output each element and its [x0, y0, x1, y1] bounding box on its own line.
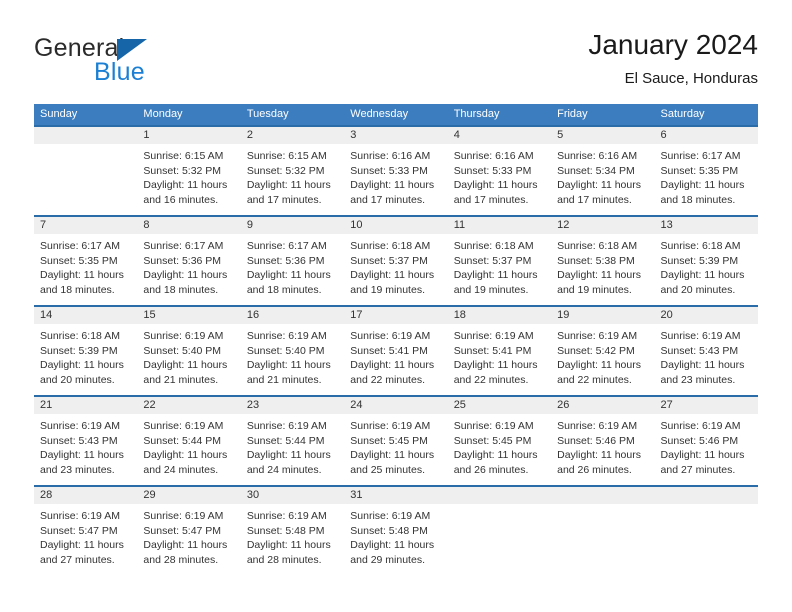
- sunset-text: Sunset: 5:44 PM: [247, 434, 338, 449]
- sunrise-text: Sunrise: 6:19 AM: [350, 419, 441, 434]
- day-body-row: Sunrise: 6:18 AM Sunset: 5:39 PM Dayligh…: [34, 324, 758, 395]
- sunrise-text: Sunrise: 6:19 AM: [557, 419, 648, 434]
- day-cell[interactable]: Sunrise: 6:17 AM Sunset: 5:35 PM Dayligh…: [34, 234, 137, 305]
- sunrise-text: Sunrise: 6:19 AM: [143, 419, 234, 434]
- daylight-text-line1: Daylight: 11 hours: [454, 448, 545, 463]
- sunrise-text: Sunrise: 6:19 AM: [40, 509, 131, 524]
- sunrise-text: Sunrise: 6:18 AM: [40, 329, 131, 344]
- daylight-text-line1: Daylight: 11 hours: [350, 358, 441, 373]
- daylight-text-line1: Daylight: 11 hours: [40, 448, 131, 463]
- day-cell[interactable]: Sunrise: 6:18 AM Sunset: 5:39 PM Dayligh…: [34, 324, 137, 395]
- day-cell[interactable]: Sunrise: 6:18 AM Sunset: 5:37 PM Dayligh…: [448, 234, 551, 305]
- daylight-text-line2: and 24 minutes.: [143, 463, 234, 478]
- daylight-text-line2: and 28 minutes.: [247, 553, 338, 568]
- weekday-header-row: Sunday Monday Tuesday Wednesday Thursday…: [34, 104, 758, 125]
- daylight-text-line2: and 17 minutes.: [350, 193, 441, 208]
- daylight-text-line2: and 20 minutes.: [40, 373, 131, 388]
- sunrise-text: Sunrise: 6:19 AM: [143, 509, 234, 524]
- sunrise-text: Sunrise: 6:15 AM: [143, 149, 234, 164]
- day-cell[interactable]: Sunrise: 6:15 AM Sunset: 5:32 PM Dayligh…: [137, 144, 240, 215]
- weekday-tuesday: Tuesday: [241, 104, 344, 125]
- daylight-text-line2: and 22 minutes.: [454, 373, 545, 388]
- daylight-text-line1: Daylight: 11 hours: [143, 358, 234, 373]
- day-number[interactable]: 18: [448, 307, 551, 324]
- day-cell[interactable]: Sunrise: 6:19 AM Sunset: 5:45 PM Dayligh…: [344, 414, 447, 485]
- week-row: 21 22 23 24 25 26 27 Sunrise: 6:19 AM Su…: [34, 395, 758, 485]
- day-number-band: 7 8 9 10 11 12 13: [34, 217, 758, 234]
- daylight-text-line2: and 29 minutes.: [350, 553, 441, 568]
- sunrise-text: Sunrise: 6:16 AM: [557, 149, 648, 164]
- sunrise-text: Sunrise: 6:19 AM: [454, 329, 545, 344]
- day-cell[interactable]: Sunrise: 6:19 AM Sunset: 5:47 PM Dayligh…: [137, 504, 240, 575]
- day-cell[interactable]: Sunrise: 6:19 AM Sunset: 5:41 PM Dayligh…: [344, 324, 447, 395]
- title-block: January 2024 El Sauce, Honduras: [588, 28, 758, 90]
- daylight-text-line1: Daylight: 11 hours: [661, 268, 752, 283]
- weekday-saturday: Saturday: [655, 104, 758, 125]
- day-number[interactable]: [655, 487, 758, 504]
- day-cell[interactable]: [551, 504, 654, 575]
- sunrise-text: Sunrise: 6:19 AM: [143, 329, 234, 344]
- sunset-text: Sunset: 5:47 PM: [40, 524, 131, 539]
- daylight-text-line1: Daylight: 11 hours: [143, 268, 234, 283]
- sunset-text: Sunset: 5:35 PM: [40, 254, 131, 269]
- calendar-page: General Blue January 2024 El Sauce, Hond…: [0, 0, 792, 612]
- sunrise-text: Sunrise: 6:19 AM: [661, 329, 752, 344]
- weekday-wednesday: Wednesday: [344, 104, 447, 125]
- day-cell[interactable]: Sunrise: 6:19 AM Sunset: 5:40 PM Dayligh…: [241, 324, 344, 395]
- sunset-text: Sunset: 5:44 PM: [143, 434, 234, 449]
- day-cell[interactable]: Sunrise: 6:19 AM Sunset: 5:42 PM Dayligh…: [551, 324, 654, 395]
- day-cell[interactable]: Sunrise: 6:19 AM Sunset: 5:40 PM Dayligh…: [137, 324, 240, 395]
- day-cell[interactable]: Sunrise: 6:17 AM Sunset: 5:36 PM Dayligh…: [241, 234, 344, 305]
- sunset-text: Sunset: 5:39 PM: [40, 344, 131, 359]
- sunrise-text: Sunrise: 6:19 AM: [454, 419, 545, 434]
- daylight-text-line1: Daylight: 11 hours: [40, 358, 131, 373]
- sunset-text: Sunset: 5:47 PM: [143, 524, 234, 539]
- daylight-text-line2: and 25 minutes.: [350, 463, 441, 478]
- day-number[interactable]: 31: [344, 487, 447, 504]
- sunset-text: Sunset: 5:48 PM: [350, 524, 441, 539]
- day-number[interactable]: 3: [344, 127, 447, 144]
- sunrise-text: Sunrise: 6:15 AM: [247, 149, 338, 164]
- week-row: 1 2 3 4 5 6 Sunrise: 6:15 AM Sunset: 5:3…: [34, 125, 758, 215]
- daylight-text-line2: and 22 minutes.: [350, 373, 441, 388]
- day-cell[interactable]: Sunrise: 6:19 AM Sunset: 5:44 PM Dayligh…: [137, 414, 240, 485]
- sunrise-text: Sunrise: 6:19 AM: [247, 329, 338, 344]
- day-number[interactable]: 22: [137, 397, 240, 414]
- day-body-row: Sunrise: 6:19 AM Sunset: 5:43 PM Dayligh…: [34, 414, 758, 485]
- sunset-text: Sunset: 5:45 PM: [454, 434, 545, 449]
- logo-text-blue: Blue: [94, 58, 145, 87]
- day-number[interactable]: 8: [137, 217, 240, 234]
- daylight-text-line1: Daylight: 11 hours: [661, 448, 752, 463]
- day-number[interactable]: 7: [34, 217, 137, 234]
- day-cell[interactable]: Sunrise: 6:18 AM Sunset: 5:39 PM Dayligh…: [655, 234, 758, 305]
- day-number-band: 28 29 30 31: [34, 487, 758, 504]
- daylight-text-line2: and 18 minutes.: [247, 283, 338, 298]
- day-number[interactable]: 21: [34, 397, 137, 414]
- calendar-grid: Sunday Monday Tuesday Wednesday Thursday…: [34, 104, 758, 575]
- day-number[interactable]: 13: [655, 217, 758, 234]
- daylight-text-line1: Daylight: 11 hours: [143, 538, 234, 553]
- day-number[interactable]: 9: [241, 217, 344, 234]
- daylight-text-line2: and 26 minutes.: [557, 463, 648, 478]
- sunset-text: Sunset: 5:41 PM: [454, 344, 545, 359]
- daylight-text-line1: Daylight: 11 hours: [557, 448, 648, 463]
- sunset-text: Sunset: 5:33 PM: [454, 164, 545, 179]
- daylight-text-line1: Daylight: 11 hours: [454, 358, 545, 373]
- sunset-text: Sunset: 5:41 PM: [350, 344, 441, 359]
- sunset-text: Sunset: 5:46 PM: [557, 434, 648, 449]
- sunrise-text: Sunrise: 6:17 AM: [661, 149, 752, 164]
- sunrise-text: Sunrise: 6:17 AM: [247, 239, 338, 254]
- page-title: January 2024: [588, 28, 758, 62]
- daylight-text-line2: and 21 minutes.: [247, 373, 338, 388]
- weekday-monday: Monday: [137, 104, 240, 125]
- daylight-text-line2: and 18 minutes.: [143, 283, 234, 298]
- daylight-text-line2: and 23 minutes.: [661, 373, 752, 388]
- day-cell[interactable]: Sunrise: 6:16 AM Sunset: 5:33 PM Dayligh…: [448, 144, 551, 215]
- sunrise-text: Sunrise: 6:18 AM: [350, 239, 441, 254]
- daylight-text-line1: Daylight: 11 hours: [661, 178, 752, 193]
- day-cell[interactable]: Sunrise: 6:15 AM Sunset: 5:32 PM Dayligh…: [241, 144, 344, 215]
- sunrise-text: Sunrise: 6:19 AM: [247, 419, 338, 434]
- daylight-text-line1: Daylight: 11 hours: [661, 358, 752, 373]
- daylight-text-line2: and 22 minutes.: [557, 373, 648, 388]
- daylight-text-line1: Daylight: 11 hours: [247, 268, 338, 283]
- sunrise-text: Sunrise: 6:19 AM: [247, 509, 338, 524]
- sunset-text: Sunset: 5:34 PM: [557, 164, 648, 179]
- sunset-text: Sunset: 5:43 PM: [661, 344, 752, 359]
- week-row: 7 8 9 10 11 12 13 Sunrise: 6:17 AM Sunse…: [34, 215, 758, 305]
- sunrise-text: Sunrise: 6:16 AM: [350, 149, 441, 164]
- day-number[interactable]: 29: [137, 487, 240, 504]
- daylight-text-line1: Daylight: 11 hours: [40, 538, 131, 553]
- daylight-text-line2: and 18 minutes.: [661, 193, 752, 208]
- daylight-text-line1: Daylight: 11 hours: [247, 448, 338, 463]
- sunrise-text: Sunrise: 6:19 AM: [350, 329, 441, 344]
- sunset-text: Sunset: 5:36 PM: [143, 254, 234, 269]
- day-cell[interactable]: Sunrise: 6:18 AM Sunset: 5:38 PM Dayligh…: [551, 234, 654, 305]
- daylight-text-line1: Daylight: 11 hours: [143, 178, 234, 193]
- day-number[interactable]: 4: [448, 127, 551, 144]
- daylight-text-line1: Daylight: 11 hours: [350, 448, 441, 463]
- sunrise-text: Sunrise: 6:19 AM: [557, 329, 648, 344]
- daylight-text-line1: Daylight: 11 hours: [247, 358, 338, 373]
- daylight-text-line2: and 27 minutes.: [661, 463, 752, 478]
- day-number[interactable]: [34, 127, 137, 144]
- sunrise-text: Sunrise: 6:17 AM: [40, 239, 131, 254]
- day-cell[interactable]: [448, 504, 551, 575]
- page-subtitle: El Sauce, Honduras: [588, 68, 758, 90]
- day-cell[interactable]: [34, 144, 137, 215]
- sunset-text: Sunset: 5:36 PM: [247, 254, 338, 269]
- sunset-text: Sunset: 5:42 PM: [557, 344, 648, 359]
- day-number[interactable]: 5: [551, 127, 654, 144]
- day-number[interactable]: 26: [551, 397, 654, 414]
- daylight-text-line1: Daylight: 11 hours: [350, 178, 441, 193]
- daylight-text-line2: and 18 minutes.: [40, 283, 131, 298]
- daylight-text-line2: and 19 minutes.: [557, 283, 648, 298]
- daylight-text-line2: and 21 minutes.: [143, 373, 234, 388]
- day-cell[interactable]: Sunrise: 6:19 AM Sunset: 5:46 PM Dayligh…: [655, 414, 758, 485]
- weekday-thursday: Thursday: [448, 104, 551, 125]
- day-cell[interactable]: Sunrise: 6:19 AM Sunset: 5:43 PM Dayligh…: [34, 414, 137, 485]
- week-row: 14 15 16 17 18 19 20 Sunrise: 6:18 AM Su…: [34, 305, 758, 395]
- day-cell[interactable]: Sunrise: 6:19 AM Sunset: 5:43 PM Dayligh…: [655, 324, 758, 395]
- day-body-row: Sunrise: 6:15 AM Sunset: 5:32 PM Dayligh…: [34, 144, 758, 215]
- day-number[interactable]: 19: [551, 307, 654, 324]
- day-cell[interactable]: Sunrise: 6:19 AM Sunset: 5:48 PM Dayligh…: [344, 504, 447, 575]
- sunrise-text: Sunrise: 6:16 AM: [454, 149, 545, 164]
- sunset-text: Sunset: 5:33 PM: [350, 164, 441, 179]
- daylight-text-line2: and 19 minutes.: [454, 283, 545, 298]
- daylight-text-line2: and 17 minutes.: [247, 193, 338, 208]
- general-blue-logo[interactable]: General Blue: [34, 34, 254, 94]
- day-cell[interactable]: Sunrise: 6:19 AM Sunset: 5:48 PM Dayligh…: [241, 504, 344, 575]
- sunset-text: Sunset: 5:40 PM: [143, 344, 234, 359]
- daylight-text-line1: Daylight: 11 hours: [557, 358, 648, 373]
- day-number-band: 21 22 23 24 25 26 27: [34, 397, 758, 414]
- day-cell[interactable]: Sunrise: 6:17 AM Sunset: 5:35 PM Dayligh…: [655, 144, 758, 215]
- day-cell[interactable]: Sunrise: 6:19 AM Sunset: 5:44 PM Dayligh…: [241, 414, 344, 485]
- day-cell[interactable]: Sunrise: 6:16 AM Sunset: 5:33 PM Dayligh…: [344, 144, 447, 215]
- sunset-text: Sunset: 5:35 PM: [661, 164, 752, 179]
- day-cell[interactable]: Sunrise: 6:19 AM Sunset: 5:45 PM Dayligh…: [448, 414, 551, 485]
- sunrise-text: Sunrise: 6:18 AM: [661, 239, 752, 254]
- sunrise-text: Sunrise: 6:17 AM: [143, 239, 234, 254]
- day-number[interactable]: [448, 487, 551, 504]
- daylight-text-line2: and 28 minutes.: [143, 553, 234, 568]
- daylight-text-line1: Daylight: 11 hours: [454, 268, 545, 283]
- page-header: General Blue January 2024 El Sauce, Hond…: [34, 28, 758, 98]
- sunset-text: Sunset: 5:40 PM: [247, 344, 338, 359]
- day-number[interactable]: 28: [34, 487, 137, 504]
- sunrise-text: Sunrise: 6:19 AM: [40, 419, 131, 434]
- sunset-text: Sunset: 5:32 PM: [143, 164, 234, 179]
- daylight-text-line2: and 27 minutes.: [40, 553, 131, 568]
- day-number[interactable]: 1: [137, 127, 240, 144]
- day-number[interactable]: 24: [344, 397, 447, 414]
- day-number[interactable]: 20: [655, 307, 758, 324]
- sunset-text: Sunset: 5:45 PM: [350, 434, 441, 449]
- day-number-band: 14 15 16 17 18 19 20: [34, 307, 758, 324]
- sunrise-text: Sunrise: 6:19 AM: [350, 509, 441, 524]
- day-number[interactable]: 30: [241, 487, 344, 504]
- sunset-text: Sunset: 5:39 PM: [661, 254, 752, 269]
- daylight-text-line1: Daylight: 11 hours: [143, 448, 234, 463]
- daylight-text-line1: Daylight: 11 hours: [350, 268, 441, 283]
- day-body-row: Sunrise: 6:19 AM Sunset: 5:47 PM Dayligh…: [34, 504, 758, 575]
- day-number[interactable]: 27: [655, 397, 758, 414]
- daylight-text-line2: and 23 minutes.: [40, 463, 131, 478]
- daylight-text-line2: and 17 minutes.: [557, 193, 648, 208]
- day-number[interactable]: 17: [344, 307, 447, 324]
- week-row: 28 29 30 31 Sunrise: 6:19 AM Sunset: 5:4…: [34, 485, 758, 575]
- day-number[interactable]: 25: [448, 397, 551, 414]
- day-number[interactable]: 16: [241, 307, 344, 324]
- weekday-friday: Friday: [551, 104, 654, 125]
- daylight-text-line2: and 24 minutes.: [247, 463, 338, 478]
- day-cell[interactable]: Sunrise: 6:19 AM Sunset: 5:41 PM Dayligh…: [448, 324, 551, 395]
- sunrise-text: Sunrise: 6:19 AM: [661, 419, 752, 434]
- day-number[interactable]: 6: [655, 127, 758, 144]
- daylight-text-line1: Daylight: 11 hours: [557, 268, 648, 283]
- day-cell[interactable]: Sunrise: 6:17 AM Sunset: 5:36 PM Dayligh…: [137, 234, 240, 305]
- sunset-text: Sunset: 5:46 PM: [661, 434, 752, 449]
- day-number[interactable]: 14: [34, 307, 137, 324]
- day-body-row: Sunrise: 6:17 AM Sunset: 5:35 PM Dayligh…: [34, 234, 758, 305]
- day-number[interactable]: 23: [241, 397, 344, 414]
- sunrise-text: Sunrise: 6:18 AM: [557, 239, 648, 254]
- daylight-text-line2: and 17 minutes.: [454, 193, 545, 208]
- day-cell[interactable]: Sunrise: 6:16 AM Sunset: 5:34 PM Dayligh…: [551, 144, 654, 215]
- sunset-text: Sunset: 5:43 PM: [40, 434, 131, 449]
- sunrise-text: Sunrise: 6:18 AM: [454, 239, 545, 254]
- daylight-text-line1: Daylight: 11 hours: [454, 178, 545, 193]
- sunset-text: Sunset: 5:48 PM: [247, 524, 338, 539]
- daylight-text-line1: Daylight: 11 hours: [350, 538, 441, 553]
- daylight-text-line1: Daylight: 11 hours: [40, 268, 131, 283]
- sunset-text: Sunset: 5:37 PM: [454, 254, 545, 269]
- daylight-text-line2: and 19 minutes.: [350, 283, 441, 298]
- day-number-band: 1 2 3 4 5 6: [34, 127, 758, 144]
- daylight-text-line1: Daylight: 11 hours: [247, 538, 338, 553]
- sunset-text: Sunset: 5:38 PM: [557, 254, 648, 269]
- day-number[interactable]: 12: [551, 217, 654, 234]
- daylight-text-line2: and 16 minutes.: [143, 193, 234, 208]
- daylight-text-line2: and 20 minutes.: [661, 283, 752, 298]
- day-number[interactable]: 15: [137, 307, 240, 324]
- day-cell[interactable]: [655, 504, 758, 575]
- day-number[interactable]: 11: [448, 217, 551, 234]
- sunset-text: Sunset: 5:32 PM: [247, 164, 338, 179]
- weekday-sunday: Sunday: [34, 104, 137, 125]
- day-cell[interactable]: Sunrise: 6:18 AM Sunset: 5:37 PM Dayligh…: [344, 234, 447, 305]
- day-cell[interactable]: Sunrise: 6:19 AM Sunset: 5:47 PM Dayligh…: [34, 504, 137, 575]
- daylight-text-line2: and 26 minutes.: [454, 463, 545, 478]
- day-number[interactable]: [551, 487, 654, 504]
- sunset-text: Sunset: 5:37 PM: [350, 254, 441, 269]
- daylight-text-line1: Daylight: 11 hours: [557, 178, 648, 193]
- day-cell[interactable]: Sunrise: 6:19 AM Sunset: 5:46 PM Dayligh…: [551, 414, 654, 485]
- day-number[interactable]: 2: [241, 127, 344, 144]
- daylight-text-line1: Daylight: 11 hours: [247, 178, 338, 193]
- day-number[interactable]: 10: [344, 217, 447, 234]
